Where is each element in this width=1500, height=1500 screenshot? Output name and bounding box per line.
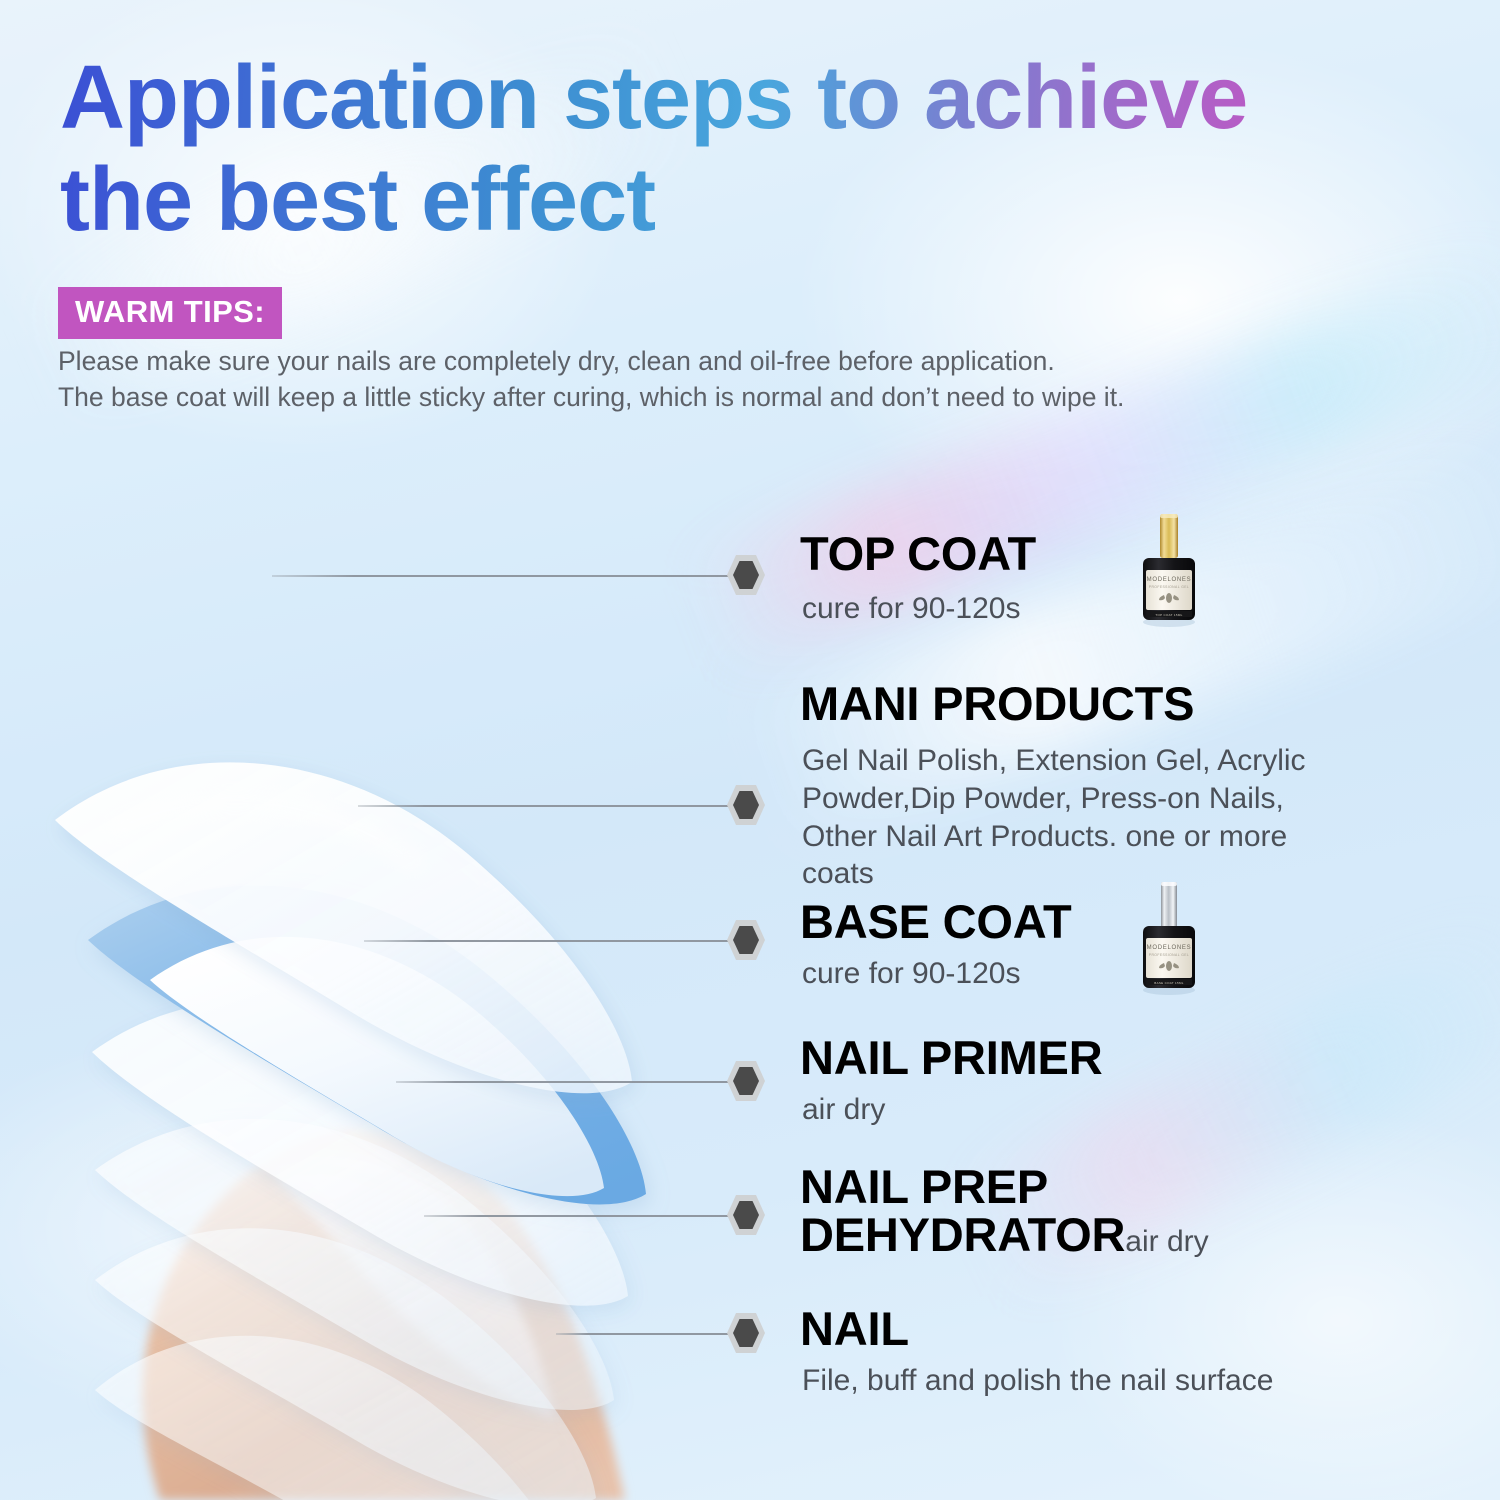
hex-marker-nail[interactable] — [726, 1312, 766, 1354]
svg-text:BASE COAT 15ML: BASE COAT 15ML — [1154, 981, 1183, 985]
hex-marker-top-coat[interactable] — [726, 554, 766, 596]
product-bottle-top-coat: MODELONES PROFESSIONAL GEL TOP COAT 15ML — [1133, 512, 1205, 627]
leader-line-mani-products — [358, 805, 730, 807]
svg-text:PROFESSIONAL GEL: PROFESSIONAL GEL — [1149, 953, 1189, 957]
warm-tips-badge: WARM TIPS: — [58, 287, 282, 339]
svg-text:MODELONES: MODELONES — [1147, 945, 1192, 951]
leader-line-nail — [556, 1333, 730, 1335]
callout-subtitle-top-coat: cure for 90-120s — [802, 590, 1020, 628]
callout-heading-nail: NAIL — [800, 1305, 909, 1354]
hex-marker-dehydrator[interactable] — [726, 1194, 766, 1236]
hex-marker-mani-products[interactable] — [726, 784, 766, 826]
svg-text:TOP COAT 15ML: TOP COAT 15ML — [1155, 613, 1182, 617]
leader-line-top-coat — [272, 575, 730, 577]
callout-subtitle-nail: File, buff and polish the nail surface — [802, 1362, 1273, 1400]
leader-line-base-coat — [364, 940, 730, 942]
callout-heading-dehydrator: NAIL PREP DEHYDRATORair dry — [800, 1163, 1220, 1260]
callout-heading-base-coat: BASE COAT — [800, 898, 1072, 947]
callout-subtitle-base-coat: cure for 90-120s — [802, 955, 1020, 993]
svg-text:PROFESSIONAL GEL: PROFESSIONAL GEL — [1149, 585, 1189, 589]
svg-text:MODELONES: MODELONES — [1147, 577, 1192, 583]
leader-line-nail-primer — [396, 1081, 730, 1083]
callout-inline-subtitle-dehydrator: air dry — [1125, 1225, 1208, 1258]
hex-marker-nail-primer[interactable] — [726, 1060, 766, 1102]
callout-heading-dehydrator-text: NAIL PREP DEHYDRATOR — [800, 1160, 1125, 1261]
product-bottle-base-coat: MODELONES PROFESSIONAL GEL BASE COAT 15M… — [1133, 880, 1205, 995]
callout-subtitle-nail-primer: air dry — [802, 1091, 885, 1129]
infographic-canvas: Application steps to achieve the best ef… — [0, 0, 1500, 1500]
hex-marker-base-coat[interactable] — [726, 919, 766, 961]
callout-heading-top-coat: TOP COAT — [800, 530, 1036, 579]
callout-subtitle-mani-products: Gel Nail Polish, Extension Gel, Acrylic … — [802, 742, 1347, 893]
leader-line-dehydrator — [424, 1215, 730, 1217]
callout-heading-nail-primer: NAIL PRIMER — [800, 1034, 1102, 1083]
page-title: Application steps to achieve the best ef… — [60, 48, 1460, 251]
callout-heading-mani-products: MANI PRODUCTS — [800, 680, 1194, 729]
